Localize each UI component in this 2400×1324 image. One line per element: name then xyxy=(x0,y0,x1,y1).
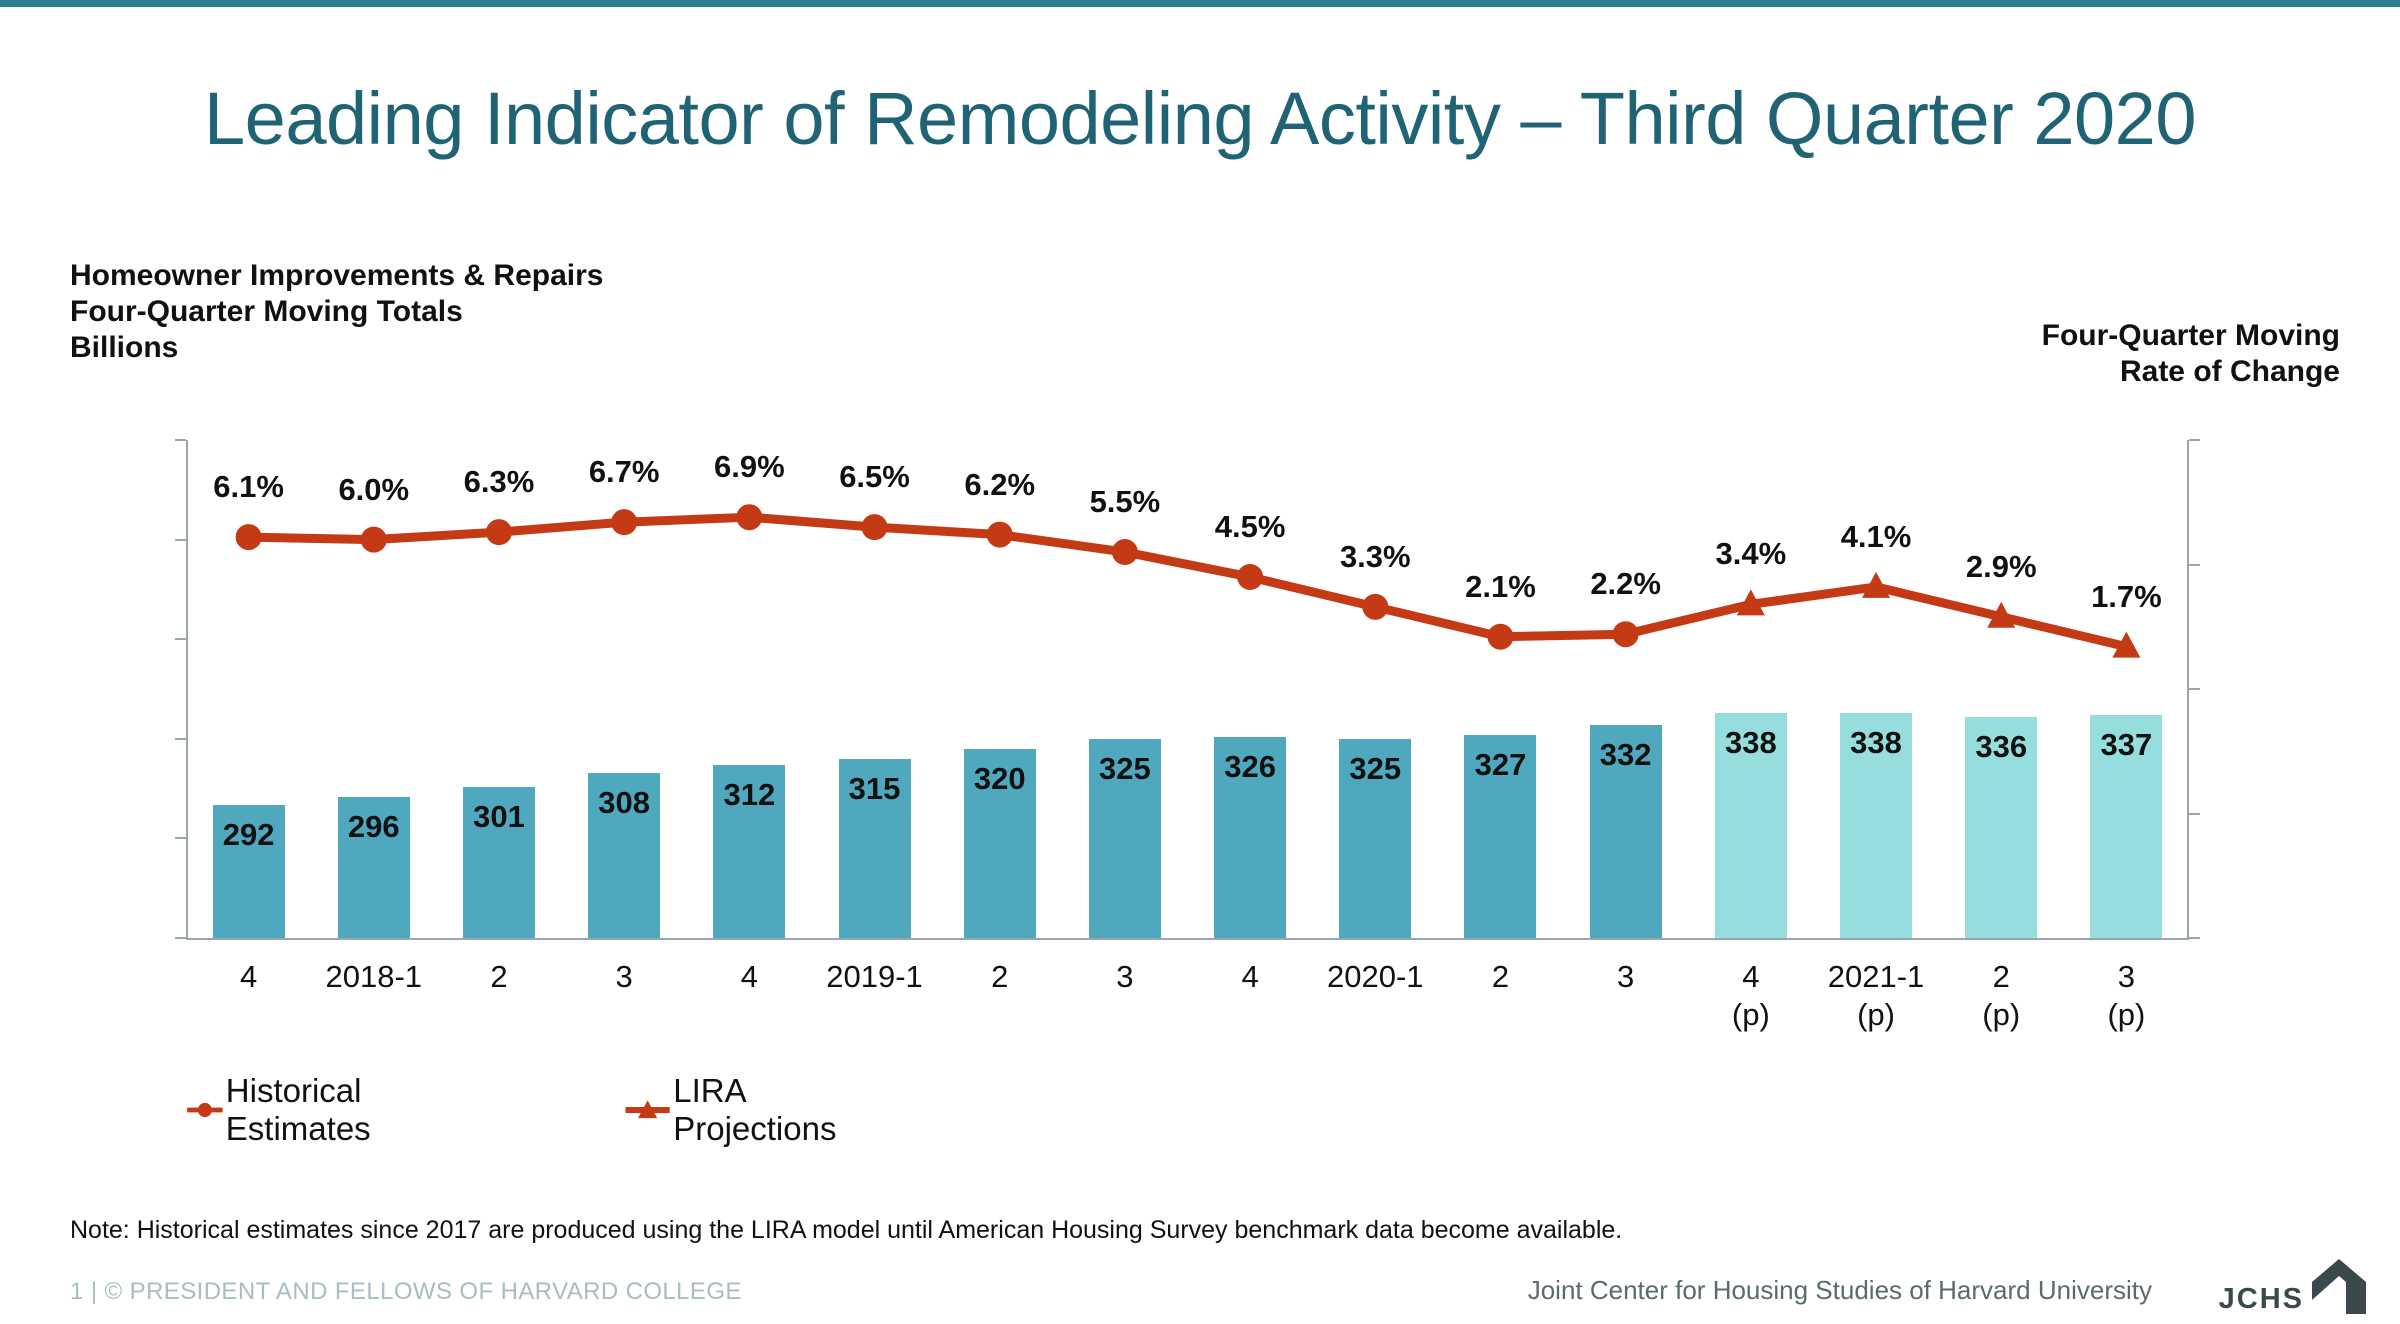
line-value-label: 2.2% xyxy=(1566,566,1686,602)
page-title: Leading Indicator of Remodeling Activity… xyxy=(0,76,2400,161)
left-caption-line-1: Homeowner Improvements & Repairs xyxy=(70,258,603,294)
legend-label: Historical Estimates xyxy=(226,1072,397,1148)
circle-marker xyxy=(198,1103,212,1117)
line-series xyxy=(186,440,2189,938)
legend-item[interactable]: LIRA Projections xyxy=(624,1072,853,1148)
circle-marker[interactable] xyxy=(736,504,762,530)
right-caption-line-2: Rate of Change xyxy=(2042,354,2340,390)
x-axis-labels: 42018-12342019-12342020-1234(p)2021-1(p)… xyxy=(186,958,2189,1068)
line-value-label: 6.2% xyxy=(940,467,1060,503)
left-tick xyxy=(175,439,186,441)
right-caption-line-1: Four-Quarter Moving xyxy=(2042,318,2340,354)
right-tick xyxy=(2189,564,2200,566)
line-value-label: 4.5% xyxy=(1190,509,1310,545)
circle-marker[interactable] xyxy=(1362,594,1388,620)
right-tick xyxy=(2189,688,2200,690)
jchs-logo: JCHS xyxy=(2219,1256,2370,1318)
circle-marker[interactable] xyxy=(611,509,637,535)
line-value-label: 4.1% xyxy=(1816,519,1936,555)
footer-copyright: 1 | © PRESIDENT AND FELLOWS OF HARVARD C… xyxy=(70,1278,742,1306)
x-axis-tick-projection-flag: (p) xyxy=(2041,996,2211,1034)
house-icon xyxy=(2308,1256,2370,1318)
legend-swatch xyxy=(186,1090,224,1130)
left-tick xyxy=(175,837,186,839)
line-value-label: 6.5% xyxy=(815,459,935,495)
left-caption-line-2: Four-Quarter Moving Totals xyxy=(70,294,603,330)
axis-baseline xyxy=(186,938,2189,940)
right-tick xyxy=(2189,813,2200,815)
circle-marker[interactable] xyxy=(1112,539,1138,565)
left-tick xyxy=(175,937,186,939)
legend-label: LIRA Projections xyxy=(673,1072,853,1148)
legend-item[interactable]: Historical Estimates xyxy=(186,1072,397,1148)
circle-marker[interactable] xyxy=(987,522,1013,548)
right-tick xyxy=(2189,439,2200,441)
left-caption-line-3: Billions xyxy=(70,330,603,366)
legend-swatch xyxy=(624,1090,671,1130)
top-accent-rule xyxy=(0,0,2400,7)
circle-marker[interactable] xyxy=(1613,621,1639,647)
line-value-label: 5.5% xyxy=(1065,484,1185,520)
line-value-label: 6.0% xyxy=(314,472,434,508)
line-value-label: 3.3% xyxy=(1315,539,1435,575)
circle-marker[interactable] xyxy=(361,527,387,553)
line-value-label: 6.9% xyxy=(689,449,809,485)
left-tick xyxy=(175,638,186,640)
footer-organization: Joint Center for Housing Studies of Harv… xyxy=(1528,1275,2152,1306)
circle-marker[interactable] xyxy=(1487,624,1513,650)
chart-plot-area: $475$425$375$325$275$225 10%5%0%-5%-10% … xyxy=(186,440,2189,938)
line-value-label: 2.9% xyxy=(1941,549,2061,585)
line-value-label: 3.4% xyxy=(1691,536,1811,572)
right-tick xyxy=(2189,937,2200,939)
line-value-label: 6.3% xyxy=(439,464,559,500)
circle-marker[interactable] xyxy=(1237,564,1263,590)
jchs-logo-text: JCHS xyxy=(2219,1283,2304,1316)
left-axis-caption: Homeowner Improvements & Repairs Four-Qu… xyxy=(70,258,603,366)
line-value-label: 6.7% xyxy=(564,454,684,490)
left-tick xyxy=(175,539,186,541)
right-axis-caption: Four-Quarter Moving Rate of Change xyxy=(2042,318,2340,390)
chart-note: Note: Historical estimates since 2017 ar… xyxy=(70,1216,1622,1245)
left-tick xyxy=(175,738,186,740)
line-value-label: 2.1% xyxy=(1440,569,1560,605)
x-axis-tick-label: 3(p) xyxy=(2041,958,2211,1034)
circle-marker[interactable] xyxy=(862,514,888,540)
circle-marker[interactable] xyxy=(486,519,512,545)
line-value-label: 1.7% xyxy=(2066,579,2186,615)
circle-marker[interactable] xyxy=(236,524,262,550)
x-axis-tick-period: 3 xyxy=(2041,958,2211,996)
line-value-label: 6.1% xyxy=(189,469,309,505)
